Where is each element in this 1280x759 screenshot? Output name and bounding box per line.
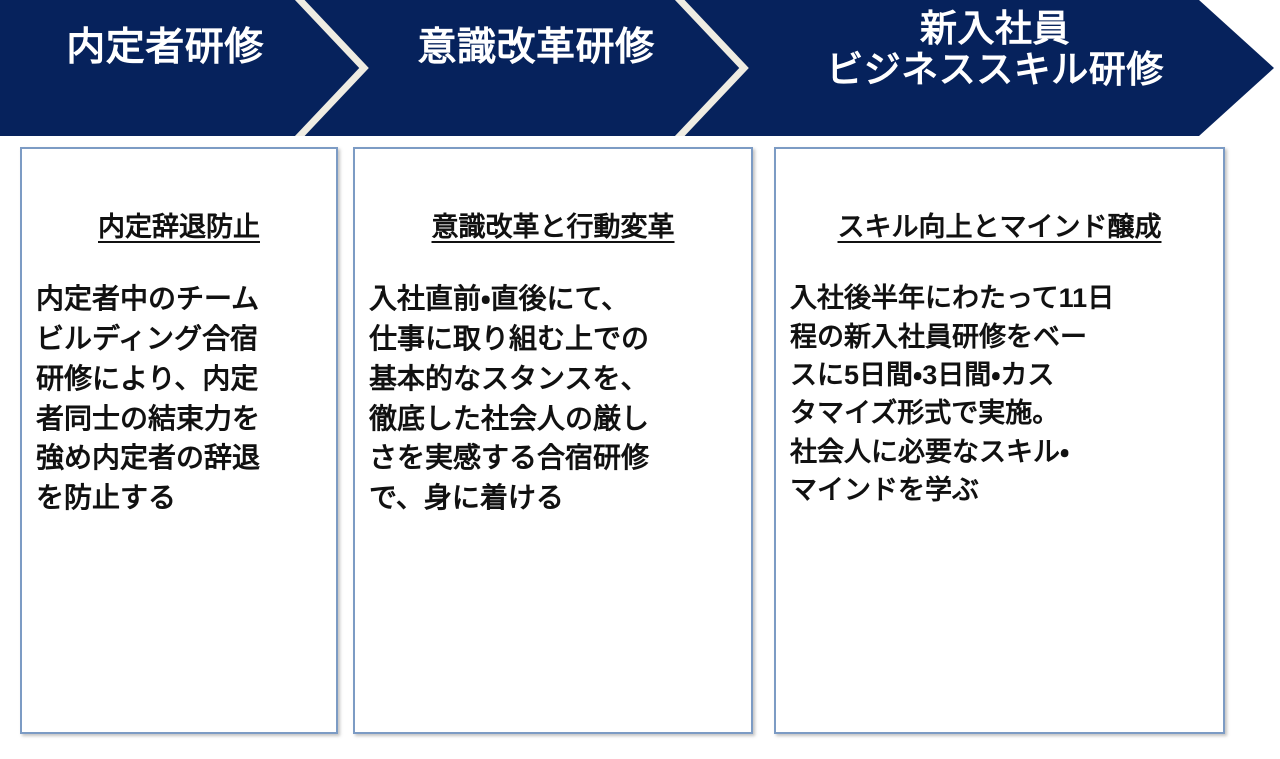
stage-label-mindset-reform: 意識改革研修: [386, 26, 686, 70]
process-flow-banner: 内定者研修 意識改革研修 新入社員 ビジネススキル研修: [0, 0, 1280, 136]
panel-body: 内定者中のチーム ビルディング合宿 研修により、内定 者同士の結束力を 強め内定…: [36, 279, 336, 518]
panel-body: 入社直前・直後にて、 仕事に取り組む上での 基本的なスタンスを、 徹底した社会人…: [369, 279, 751, 518]
panel-heading: 内定辞退防止: [22, 211, 336, 243]
detail-panel-mindset-behavior-reform: 意識改革と行動変革 入社直前・直後にて、 仕事に取り組む上での 基本的なスタンス…: [353, 147, 753, 734]
panel-body: 入社後半年にわたって11日 程の新入社員研修をベー スに5日間・3日間・カス タ…: [790, 279, 1223, 509]
panel-heading: スキル向上とマインド醸成: [776, 211, 1223, 243]
stage-label-new-employee-business-skill: 新入社員 ビジネススキル研修: [770, 8, 1220, 91]
stage-label-onboarding-offer: 内定者研修: [30, 26, 300, 70]
panel-heading: 意識改革と行動変革: [355, 211, 751, 243]
detail-panel-skill-mindset-development: スキル向上とマインド醸成 入社後半年にわたって11日 程の新入社員研修をベー ス…: [774, 147, 1225, 734]
detail-panel-offer-decline-prevention: 内定辞退防止 内定者中のチーム ビルディング合宿 研修により、内定 者同士の結束…: [20, 147, 338, 734]
